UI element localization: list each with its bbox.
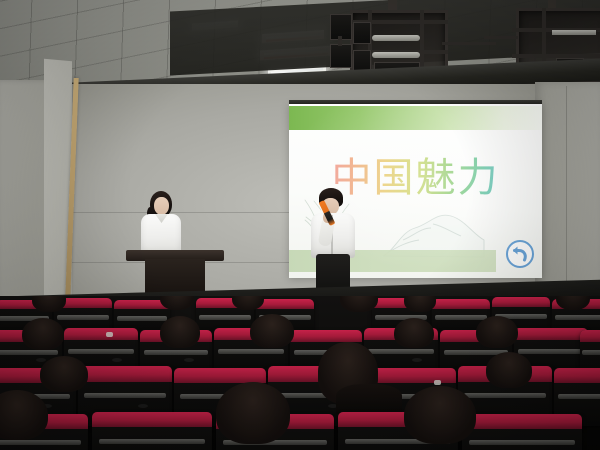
audience-head xyxy=(394,318,434,348)
audience-head xyxy=(404,386,476,444)
undo-arrow-icon[interactable] xyxy=(505,239,535,269)
hanging-speaker-cluster xyxy=(330,14,352,74)
audience-head xyxy=(476,316,518,348)
presenter-lectern-face xyxy=(154,197,169,215)
audience-shoulder xyxy=(336,384,402,414)
hair-clip xyxy=(434,380,441,385)
audience-head xyxy=(160,296,194,310)
audience-head xyxy=(40,356,88,392)
seat[interactable] xyxy=(462,414,582,450)
lecture-hall-scene: 中国魅力 xyxy=(0,0,600,450)
audience-head xyxy=(160,316,200,348)
audience-seating xyxy=(0,296,600,450)
speaker-with-microphone xyxy=(310,188,356,298)
audience-head xyxy=(216,382,290,444)
slide-header-band xyxy=(289,106,542,130)
audience-head xyxy=(486,352,532,388)
audience-head xyxy=(22,318,64,350)
seat[interactable] xyxy=(92,412,212,450)
audience-head xyxy=(404,296,436,312)
drop-ceiling xyxy=(0,0,600,96)
hair-clip xyxy=(106,332,113,337)
audience-head xyxy=(250,314,294,348)
